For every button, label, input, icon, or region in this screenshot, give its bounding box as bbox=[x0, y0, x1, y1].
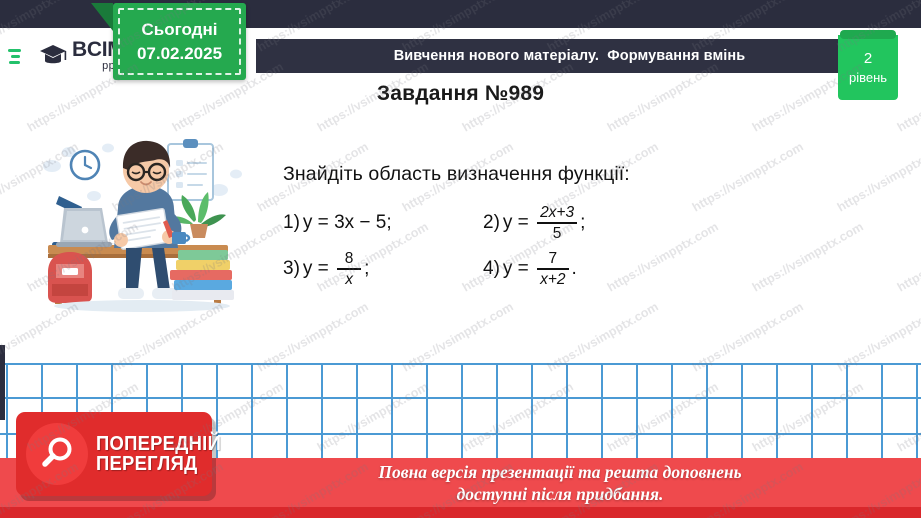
preview-label-line-1: ПОПЕРЕДНІЙ bbox=[96, 434, 221, 454]
item-lhs: y = bbox=[503, 258, 534, 280]
task-prompt: Знайдіть область визначення функції: bbox=[283, 163, 703, 186]
task-row-1: 1) y = 3x − 5; 2) y = 2x+3 5 ; bbox=[283, 200, 703, 246]
slide-canvas: Вивчення нового матеріалу. Формування вм… bbox=[0, 0, 921, 518]
fraction-denominator: x+2 bbox=[537, 271, 568, 288]
task-item-4: 4) y = 7 x+2 . bbox=[483, 250, 577, 288]
study-illustration bbox=[22, 112, 274, 320]
task-row-2: 3) y = 8 x ; 4) y = 7 x+2 . bbox=[283, 246, 703, 292]
item-lhs: y = bbox=[303, 212, 334, 234]
item-tail: ; bbox=[364, 258, 369, 280]
fraction-numerator: 2x+3 bbox=[537, 204, 577, 221]
item-tail: . bbox=[572, 258, 577, 280]
item-number: 3) bbox=[283, 258, 300, 280]
brand-logo[interactable]: BCIM pptx bbox=[8, 33, 128, 77]
level-number: 2 bbox=[864, 49, 872, 69]
banner-line-2: доступні після придбання. bbox=[230, 484, 890, 506]
preview-button[interactable]: ПОПЕРЕДНІЙ ПЕРЕГЛЯД bbox=[16, 412, 212, 496]
fraction: 8 x bbox=[337, 250, 361, 288]
item-number: 4) bbox=[483, 258, 500, 280]
task-item-2: 2) y = 2x+3 5 ; bbox=[483, 204, 585, 242]
task-item-3: 3) y = 8 x ; bbox=[283, 250, 483, 288]
level-word: рівень bbox=[849, 69, 887, 87]
banner-bottom-strip bbox=[0, 507, 921, 518]
task-item-1: 1) y = 3x − 5; bbox=[283, 212, 483, 234]
item-expression: 3x − 5; bbox=[334, 212, 392, 234]
preview-button-label: ПОПЕРЕДНІЙ ПЕРЕГЛЯД bbox=[96, 434, 221, 474]
fraction-numerator: 7 bbox=[545, 250, 560, 267]
item-tail: ; bbox=[580, 212, 585, 234]
graduation-cap-icon bbox=[38, 40, 68, 70]
today-date-badge: Сьогодні 07.02.2025 bbox=[113, 3, 246, 80]
fraction: 7 x+2 bbox=[537, 250, 568, 288]
left-dark-edge bbox=[0, 345, 5, 420]
preview-icon-circle bbox=[26, 423, 88, 485]
fraction-numerator: 8 bbox=[342, 250, 357, 267]
item-number: 2) bbox=[483, 212, 500, 234]
speed-lines-icon bbox=[8, 42, 34, 68]
fraction-bar bbox=[337, 268, 361, 270]
lesson-stage-header: Вивчення нового матеріалу. Формування вм… bbox=[256, 39, 883, 73]
fraction-denominator: x bbox=[342, 271, 356, 288]
lesson-stage-title: Вивчення нового матеріалу. Формування вм… bbox=[394, 48, 746, 64]
fraction: 2x+3 5 bbox=[537, 204, 577, 242]
today-date: 07.02.2025 bbox=[137, 44, 222, 64]
preview-label-line-2: ПЕРЕГЛЯД bbox=[96, 454, 221, 474]
item-lhs: y = bbox=[503, 212, 534, 234]
badge-fold-corner bbox=[91, 3, 113, 31]
fraction-bar bbox=[537, 268, 568, 270]
fraction-denominator: 5 bbox=[550, 225, 565, 242]
today-label: Сьогодні bbox=[142, 20, 218, 40]
item-number: 1) bbox=[283, 212, 300, 234]
item-lhs: y = bbox=[303, 258, 334, 280]
banner-line-1: Повна версія презентації та решта доповн… bbox=[230, 462, 890, 484]
fraction-bar bbox=[537, 222, 577, 224]
magnifier-icon bbox=[37, 434, 77, 474]
purchase-banner-text: Повна версія презентації та решта доповн… bbox=[230, 462, 890, 506]
task-content: Знайдіть область визначення функції: 1) … bbox=[283, 163, 703, 292]
page-title: Завдання №989 bbox=[0, 82, 921, 106]
